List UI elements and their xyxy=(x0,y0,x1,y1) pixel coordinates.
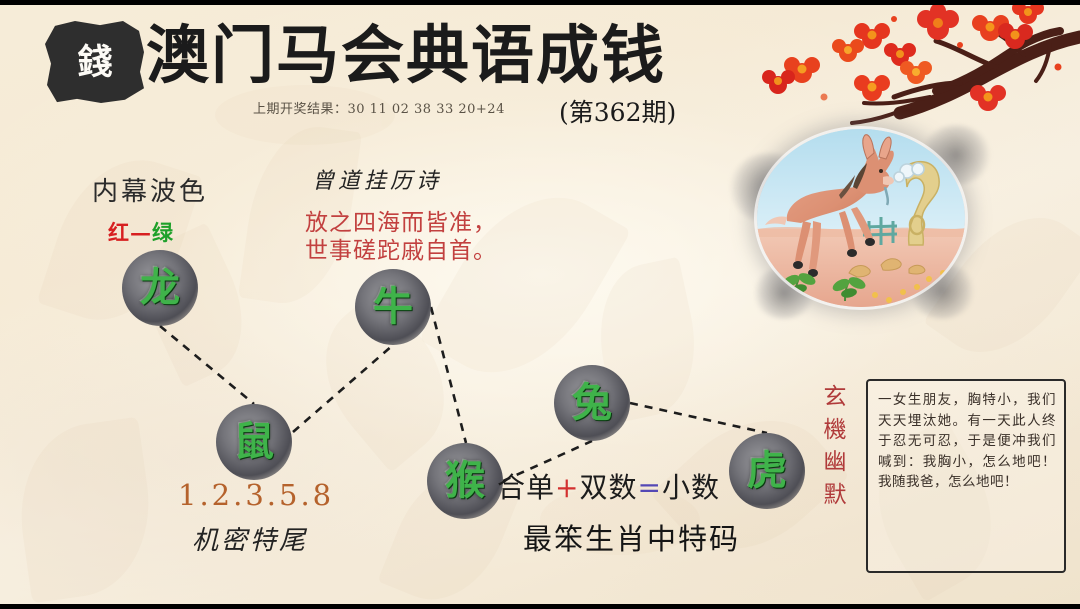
zodiac-node-tiger[interactable]: 虎 xyxy=(729,433,805,509)
secret-tail-numbers: 1.2.3.5.8 xyxy=(178,478,334,512)
zodiac-node-glyph: 兔 xyxy=(572,383,612,423)
color-red: 红 xyxy=(108,220,130,245)
zodiac-node-glyph: 牛 xyxy=(373,287,413,327)
formula-term-1: 合单 xyxy=(497,471,555,504)
zodiac-node-glyph: 猴 xyxy=(445,461,485,501)
issue-number: (第362期) xyxy=(559,93,676,129)
donkey-illustration xyxy=(735,117,985,317)
formula-caption: 最笨生肖中特码 xyxy=(523,516,740,558)
zodiac-link xyxy=(160,326,254,404)
formula-plus: + xyxy=(555,471,579,504)
formula-equals: = xyxy=(638,471,662,504)
zodiac-node-ox[interactable]: 牛 xyxy=(355,269,431,345)
formula-result: 小数 xyxy=(662,471,720,504)
donkey-medallion-image xyxy=(757,129,965,307)
color-green: 绿 xyxy=(152,220,174,245)
humor-vertical-title: 玄機幽默 xyxy=(820,381,850,512)
humor-body-text: 一女生朋友，胸特小，我们天天埋汰她。有一天此人终于忍无可忍，于是便冲我们喊到：我… xyxy=(878,390,1056,493)
zodiac-node-dragon[interactable]: 龙 xyxy=(122,250,198,326)
zodiac-node-glyph: 虎 xyxy=(747,451,787,491)
zodiac-node-rabbit[interactable]: 兔 xyxy=(554,365,630,441)
zodiac-link xyxy=(293,345,393,432)
seal-stamp-logo: 錢 xyxy=(45,21,145,103)
humor-vertical-title-char: 機 xyxy=(820,414,850,447)
page-title: 澳门马会典语成钱 xyxy=(146,21,666,89)
seal-stamp-char: 錢 xyxy=(77,45,112,80)
zodiac-node-rat[interactable]: 鼠 xyxy=(216,404,292,480)
formula-term-2: 双数 xyxy=(579,471,637,504)
lottery-poster: 錢 澳门马会典语成钱 上期开奖结果：30 11 02 38 33 20+24 (… xyxy=(0,0,1080,609)
last-draw-result: 上期开奖结果：30 11 02 38 33 20+24 xyxy=(253,98,505,117)
color-separator: — xyxy=(130,220,152,245)
zodiac-node-glyph: 龙 xyxy=(140,268,180,308)
humor-vertical-title-char: 默 xyxy=(820,479,850,512)
humor-vertical-title-char: 幽 xyxy=(820,446,850,479)
color-prediction: 红—绿 xyxy=(108,217,174,247)
formula-expression: 合单+双数=小数 xyxy=(497,466,720,506)
poem-line-2: 世事磋跎戚自首。 xyxy=(305,231,497,265)
humor-vertical-title-char: 玄 xyxy=(820,381,850,414)
poem-title: 曾道挂历诗 xyxy=(312,163,442,195)
zodiac-link xyxy=(630,403,767,433)
zodiac-link xyxy=(431,307,466,443)
secret-tail-label: 机密特尾 xyxy=(192,520,308,557)
zodiac-node-glyph: 鼠 xyxy=(234,422,274,462)
plum-blossom-branch-icon xyxy=(760,1,1080,131)
zodiac-node-monkey[interactable]: 猴 xyxy=(427,443,503,519)
insider-color-label: 内幕波色 xyxy=(92,171,208,208)
humor-box: 一女生朋友，胸特小，我们天天埋汰她。有一天此人终于忍无可忍，于是便冲我们喊到：我… xyxy=(866,379,1066,573)
